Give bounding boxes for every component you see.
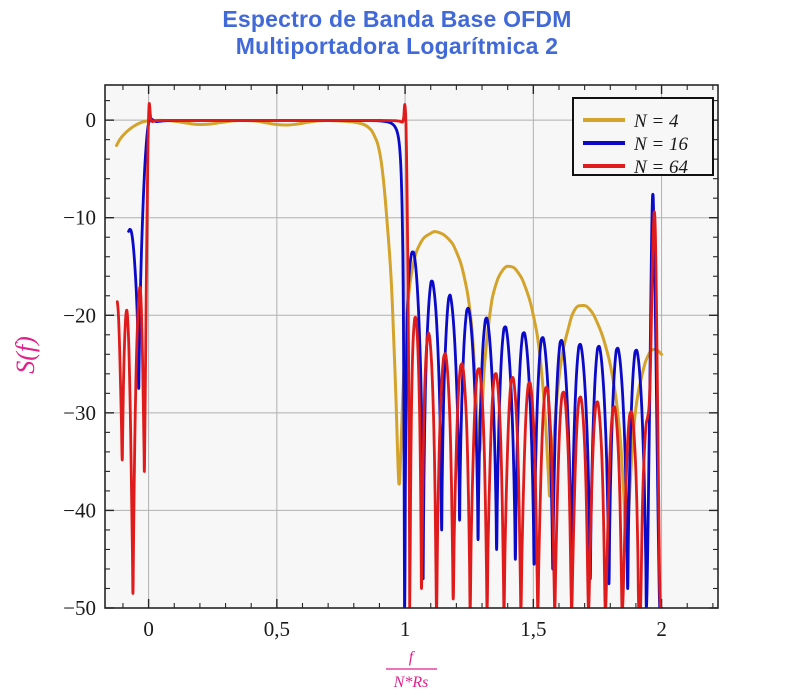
- legend-label-64: N = 64: [633, 157, 688, 178]
- x-tick-label: 2: [656, 617, 667, 641]
- x-axis-label: f N*Rs: [386, 649, 437, 691]
- y-tick-labels: 0−10−20−30−40−50: [63, 108, 96, 620]
- x-tick-label: 0,5: [264, 617, 290, 641]
- y-tick-label: −10: [63, 206, 96, 230]
- y-tick-label: −40: [63, 498, 96, 522]
- legend-label-4: N = 4: [633, 111, 679, 132]
- x-axis-label-numerator: f: [409, 649, 416, 666]
- x-tick-label: 1: [400, 617, 411, 641]
- spectrum-plot: 00,511,52 0−10−20−30−40−50 S(f) f N*Rs N…: [0, 0, 794, 698]
- y-axis-label-text: S(f): [11, 336, 40, 374]
- y-tick-label: −20: [63, 303, 96, 327]
- y-axis-label: S(f): [11, 336, 40, 374]
- x-tick-label: 1,5: [520, 617, 546, 641]
- legend-label-16: N = 16: [633, 134, 688, 155]
- figure-root: Espectro de Banda Base OFDM Multiportado…: [0, 0, 794, 698]
- legend-items: N = 4N = 16N = 64: [583, 111, 688, 178]
- x-tick-label: 0: [143, 617, 154, 641]
- y-tick-label: −30: [63, 401, 96, 425]
- x-tick-labels: 00,511,52: [143, 617, 666, 641]
- legend: N = 4N = 16N = 64: [573, 98, 713, 178]
- y-tick-label: −50: [63, 596, 96, 620]
- y-tick-label: 0: [86, 108, 97, 132]
- x-axis-label-denominator: N*Rs: [393, 674, 429, 691]
